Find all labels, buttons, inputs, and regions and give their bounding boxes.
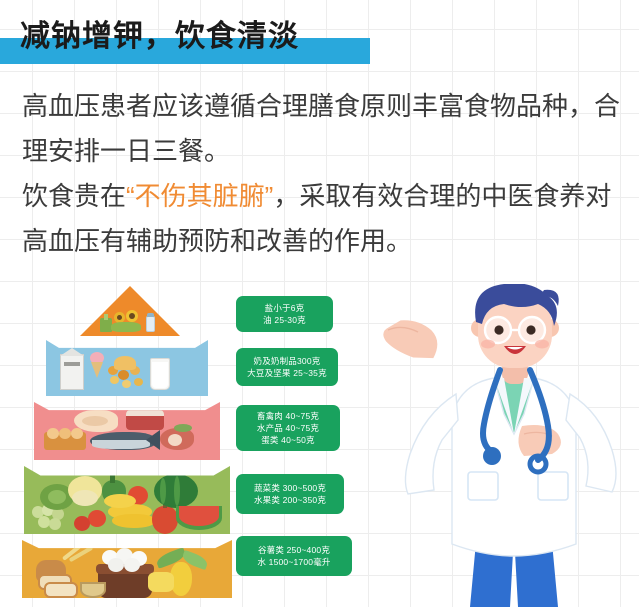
porridge-bowl-icon xyxy=(80,582,106,598)
label-dairy-nuts: 奶及奶制品300克 大豆及坚果 25~35克 xyxy=(236,348,338,386)
doctor-left-arm xyxy=(405,394,458,494)
label-grain-line-1: 谷薯类 250~400克 xyxy=(258,544,330,556)
watermelon-slice-flesh xyxy=(179,506,219,526)
sunflower-center xyxy=(117,315,122,320)
grape-5 xyxy=(49,518,61,530)
label-dairy-nuts-line-1: 奶及奶制品300克 xyxy=(254,355,321,367)
page-title-block: 减钠增钾，饮食清淡 xyxy=(0,16,639,60)
egg-icon-1 xyxy=(47,428,59,439)
label-oil-salt-line-2: 油 25-30克 xyxy=(263,314,306,326)
nutrition-labels: 盐小于6克 油 25-30克 奶及奶制品300克 大豆及坚果 25~35克 畜禽… xyxy=(236,286,356,598)
oil-salt-foods xyxy=(94,308,166,334)
watermelon-stripe-2 xyxy=(174,476,180,506)
banana-2 xyxy=(112,514,156,528)
paragraph-one: 高血压患者应该遵循合理膳食原则丰富食物品种，合理安排一日三餐。 xyxy=(22,84,628,174)
sunflower-center-2 xyxy=(129,313,135,319)
banana-3 xyxy=(104,494,136,508)
label-oil-salt-line-1: 盐小于6克 xyxy=(265,302,305,314)
pyramid-tier-grain xyxy=(22,540,232,598)
label-protein-line-1: 畜禽肉 40~75克 xyxy=(257,410,319,422)
body-paragraphs: 高血压患者应该遵循合理膳食原则丰富食物品种，合理安排一日三餐。 饮食贵在“不伤其… xyxy=(22,84,628,264)
salt-shaker-icon xyxy=(146,316,155,332)
fish-belly xyxy=(92,440,150,449)
label-protein-line-2: 水产品 40~75克 xyxy=(257,422,319,434)
pear-icon xyxy=(152,506,178,534)
doctor-illustration xyxy=(372,284,634,607)
salt-shaker-cap xyxy=(147,313,154,317)
page-title: 减钠增钾，饮食清淡 xyxy=(20,16,299,58)
garnish-icon xyxy=(174,424,192,432)
tomato-1 xyxy=(88,510,106,527)
meat-fat-layer xyxy=(126,410,164,416)
icecream-cone xyxy=(91,362,103,378)
label-grain: 谷薯类 250~400克 水 1500~1700毫升 xyxy=(236,536,352,576)
stethoscope-chestpiece xyxy=(483,447,501,465)
doctor-cheek-left xyxy=(481,340,495,349)
oil-bottle-neck xyxy=(104,314,108,320)
paragraph-two: 饮食贵在“不伤其脏腑”，采取有效合理的中医食养对高血压有辅助预防和改善的作用。 xyxy=(22,174,628,264)
bun-4 xyxy=(108,558,124,572)
label-veg-fruit: 蔬菜类 300~500克 水果类 200~350克 xyxy=(236,474,344,514)
shredded-corn xyxy=(148,572,174,592)
poultry-shade xyxy=(82,416,108,426)
label-oil-salt: 盐小于6克 油 25-30克 xyxy=(236,296,333,332)
milk-carton-top xyxy=(60,348,84,356)
doctor-cheek-right xyxy=(535,340,549,349)
pyramid-tier-veg-fruit xyxy=(24,466,230,534)
sunflower-leaves xyxy=(111,322,141,332)
infographic-page: 减钠增钾，饮食清淡 高血压患者应该遵循合理膳食原则丰富食物品种，合理安排一日三餐… xyxy=(0,0,639,607)
label-veg-fruit-line-1: 蔬菜类 300~500克 xyxy=(254,482,326,494)
label-protein: 畜禽肉 40~75克 水产品 40~75克 蛋类 40~50克 xyxy=(236,405,340,451)
bread-slice-2 xyxy=(44,582,78,598)
tomato-2 xyxy=(74,516,90,531)
doctor-eye-left xyxy=(494,325,503,334)
label-grain-line-2: 水 1500~1700毫升 xyxy=(257,556,330,568)
ham-center xyxy=(168,434,182,446)
bean-icon-1 xyxy=(110,376,119,384)
label-protein-line-3: 蛋类 40~50克 xyxy=(261,434,315,446)
melon-slice xyxy=(72,490,98,506)
pyramid-tier-protein xyxy=(34,402,220,460)
cabbage-inner xyxy=(48,490,66,504)
pyramid-tier-dairy-nuts xyxy=(46,340,208,396)
milk-carton-icon xyxy=(60,354,84,390)
paragraph-two-quote: “不伤其脏腑” xyxy=(126,181,273,211)
milk-glass-fill xyxy=(152,362,168,388)
bean-icon-2 xyxy=(122,380,131,388)
egg-icon-3 xyxy=(71,428,83,439)
food-pyramid xyxy=(22,286,232,598)
label-dairy-nuts-line-2: 大豆及坚果 25~35克 xyxy=(247,367,327,379)
bun-5 xyxy=(124,558,140,572)
doctor-eye-right xyxy=(526,325,535,334)
milk-carton-label xyxy=(64,362,80,366)
pastry-icon xyxy=(114,356,136,370)
egg-icon-2 xyxy=(59,428,71,439)
paragraph-two-prefix: 饮食贵在 xyxy=(22,181,126,211)
nut-icon-2 xyxy=(118,370,129,380)
watermelon-stripe xyxy=(160,478,166,504)
bean-icon-3 xyxy=(134,378,143,386)
pepper-stem xyxy=(110,475,115,483)
label-veg-fruit-line-2: 水果类 200~350克 xyxy=(254,494,326,506)
doctor-left-hand xyxy=(382,318,438,362)
